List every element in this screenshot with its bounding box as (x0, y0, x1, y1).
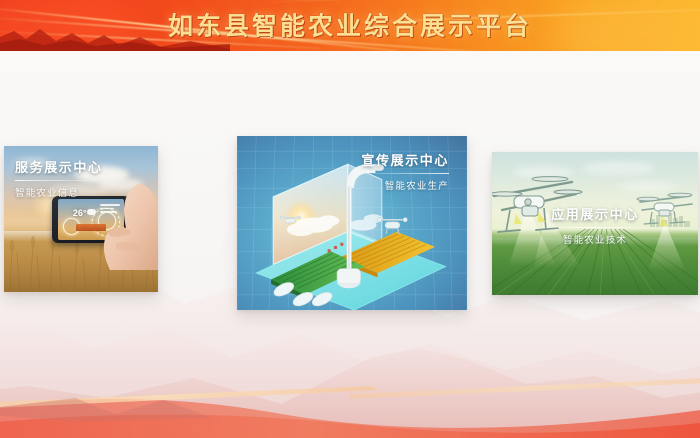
panel-promotion-subtitle: 智能农业生产 (361, 178, 449, 192)
caption-divider (361, 173, 449, 174)
panel-promotion-display-center[interactable]: 宣传展示中心 智能农业生产 (237, 136, 467, 310)
panel-promotion-caption: 宣传展示中心 智能农业生产 (361, 150, 449, 192)
page-title: 如东县智能农业综合展示平台 (0, 13, 700, 38)
caption-divider (15, 180, 103, 181)
caption-divider (536, 227, 654, 228)
panel-application-title: 应用展示中心 (492, 204, 698, 223)
phone-temperature-readout: 26° (73, 208, 87, 218)
platform-showcase-page: 如东县智能农业综合展示平台 (0, 0, 700, 438)
panel-service-title: 服务展示中心 (15, 157, 103, 176)
panel-promotion-title: 宣传展示中心 (361, 150, 449, 169)
panel-application-display-center[interactable]: 应用展示中心 智能农业技术 (492, 152, 698, 295)
panel-service-caption: 服务展示中心 智能农业信息 (15, 157, 103, 199)
hand-holding-phone (98, 184, 158, 270)
header-banner: 如东县智能农业综合展示平台 (0, 0, 700, 51)
panel-service-display-center[interactable]: 26° (4, 146, 158, 292)
panel-application-caption: 应用展示中心 智能农业技术 (492, 204, 698, 246)
panel-application-subtitle: 智能农业技术 (492, 232, 698, 246)
panel-service-subtitle: 智能农业信息 (15, 185, 103, 199)
